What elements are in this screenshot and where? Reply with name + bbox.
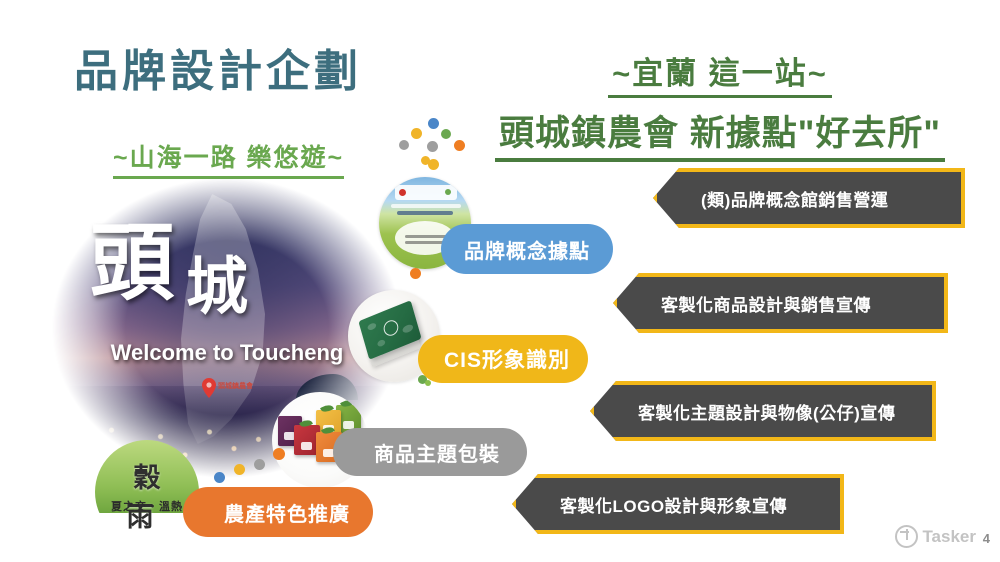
toucheng-calligraphy: 頭城 (90, 196, 365, 336)
decorative-dot (410, 268, 421, 279)
decorative-dot (214, 472, 225, 483)
photo-green-dot (445, 189, 451, 195)
decorative-dot (441, 129, 451, 139)
decorative-dot (454, 140, 465, 151)
package-blob (402, 323, 414, 334)
chevron-custom-logo[interactable]: 客製化LOGO設計與形象宣傳 (512, 474, 844, 534)
chevron-custom-product[interactable]: 客製化商品設計與銷售宣傳 (613, 273, 948, 333)
photo-text-line (405, 235, 447, 238)
page-title: 品牌設計企劃 (74, 48, 362, 96)
pill-agri-promo[interactable]: 農產特色推廣 (183, 487, 373, 537)
tasker-logo-icon (895, 525, 918, 548)
tasker-watermark-label: Tasker (922, 527, 976, 547)
package-blob (377, 339, 386, 348)
slide-canvas: 品牌設計企劃 ~山海一路 樂悠遊~ ~宜蘭 這一站~ 頭城鎮農會 新據點"好去所… (0, 0, 1000, 562)
chevron-custom-theme[interactable]: 客製化主題設計與物像(公仔)宣傳 (590, 381, 936, 441)
decorative-dot (411, 128, 422, 139)
guyu-title: 穀 雨 (95, 456, 199, 534)
photo-red-dot (399, 189, 406, 196)
left-subtitle: ~山海一路 樂悠遊~ (113, 138, 344, 179)
photo-text-line (397, 211, 453, 215)
decorative-dot (399, 140, 409, 150)
gift-box-tag (301, 442, 312, 450)
decorative-dot (428, 118, 439, 129)
package-seal-icon (382, 318, 400, 338)
decorative-dot (254, 459, 265, 470)
welcome-text: Welcome to Toucheng (111, 340, 344, 366)
right-header-block: ~宜蘭 這一站~ 頭城鎮農會 新據點"好去所" (455, 48, 985, 162)
guyu-photo: 穀 雨 夏之交・溫熱 (95, 440, 199, 544)
calligraphy-char-2: 城 (186, 250, 254, 323)
decorative-dot (425, 380, 431, 386)
tasker-watermark: Tasker (895, 525, 976, 548)
pill-brand-concept[interactable]: 品牌概念據點 (441, 224, 613, 274)
package-blob (367, 322, 377, 331)
leaf-icon (320, 403, 334, 415)
chevron-concept-store-ops[interactable]: (類)品牌概念館銷售營運 (653, 168, 965, 228)
page-number: 4 (983, 531, 990, 546)
photo-text-line (391, 204, 461, 208)
calligraphy-char-1: 頭 (90, 213, 180, 312)
pill-cis-identity[interactable]: CIS形象識別 (418, 335, 588, 383)
pill-product-pack[interactable]: 商品主題包裝 (333, 428, 527, 476)
decorative-dot (421, 156, 430, 165)
right-header-line2: 頭城鎮農會 新據點"好去所" (495, 105, 945, 162)
decorative-dot (427, 141, 438, 152)
decorative-dot (273, 448, 285, 460)
right-header-line1: ~宜蘭 這一站~ (608, 48, 832, 98)
decorative-dot (234, 464, 245, 475)
location-pin-icon (202, 378, 216, 398)
pin-label: 頭城鎮農會 (218, 381, 253, 391)
